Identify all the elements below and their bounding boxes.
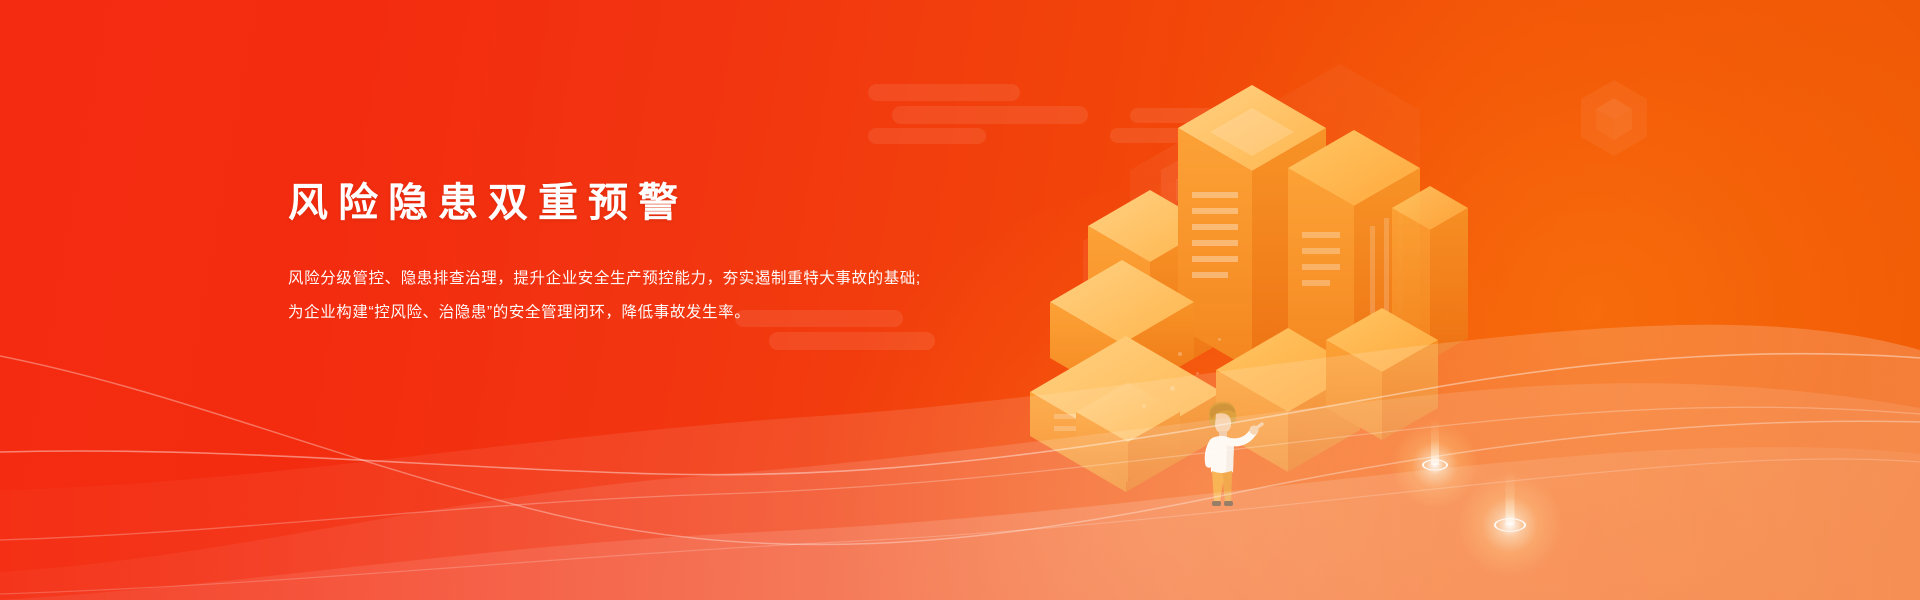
floating-hexagon-small-icon [1158,150,1228,228]
banner-copy: 风险隐患双重预警 风险分级管控、隐患排查治理，提升企业安全生产预控能力，夯实遏制… [288,178,988,330]
glow-spot-right-icon [1455,470,1565,580]
person-pointing-illustration [1196,398,1276,518]
sparkle-dot [1218,338,1221,341]
promo-banner: 风险隐患双重预警 风险分级管控、隐患排查治理，提升企业安全生产预控能力，夯实遏制… [0,0,1920,600]
banner-subtitle: 风险分级管控、隐患排查治理，提升企业安全生产预控能力，夯实遏制重特大事故的基础;… [288,262,988,330]
cloud-top-icon [868,84,1088,144]
page-title: 风险隐患双重预警 [288,178,988,228]
sparkle-dot [1142,404,1146,408]
cloud-mid-right-icon [1110,108,1280,150]
background-glow [1140,0,1920,600]
isometric-server-city-illustration [1010,40,1480,510]
sparkle-dot [1196,372,1199,375]
floating-cube-large-icon [1077,210,1187,330]
sparkle-dot [1170,386,1175,391]
subtitle-line-2: 为企业构建“控风险、治隐患”的安全管理闭环，降低事故发生率。 [288,296,988,330]
sparkle-dot [1178,352,1182,356]
glow-spot-left-icon [1390,420,1480,510]
floating-hexagon-top-right-icon [1578,78,1650,158]
subtitle-line-1: 风险分级管控、隐患排查治理，提升企业安全生产预控能力，夯实遏制重特大事故的基础; [288,262,988,296]
